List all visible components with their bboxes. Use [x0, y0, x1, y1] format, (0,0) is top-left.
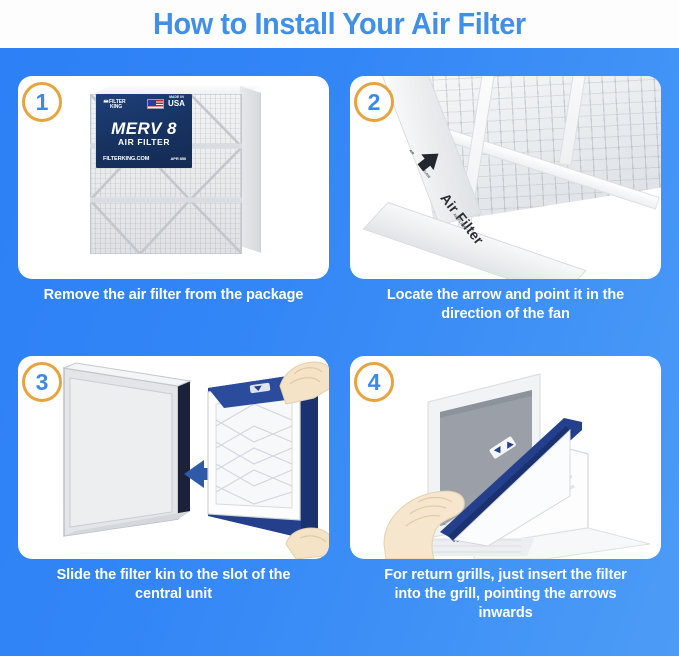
hand-upper-icon — [280, 362, 329, 404]
air-filter-photo: FILTER KING MADE IN USA MERV 8 AIR FILTE… — [84, 86, 264, 266]
infographic-root: How to Install Your Air Filter — [0, 0, 679, 656]
header-bar: How to Install Your Air Filter — [0, 0, 679, 48]
filter-corner-assembly: AIR FLOW Air Filter AIRFLOW — [350, 76, 661, 279]
step-caption-2: Locate the arrow and point it in the dir… — [350, 286, 661, 324]
product-type-text: AIR FILTER — [96, 138, 192, 147]
step-number-4: 4 — [368, 371, 381, 394]
apr-rating-text: APR 850 — [170, 156, 186, 161]
step-number-badge-1: 1 — [22, 82, 62, 122]
central-unit-body — [64, 363, 190, 536]
usa-flag-icon — [147, 99, 164, 109]
step-number-badge-2: 2 — [354, 82, 394, 122]
step-number-badge-3: 3 — [22, 362, 62, 402]
steps-grid: FILTER KING MADE IN USA MERV 8 AIR FILTE… — [0, 48, 679, 656]
brand-website-text: FILTERKING.COM — [103, 156, 149, 162]
label-footer: FILTERKING.COM APR 850 — [103, 156, 186, 162]
slide-filter-illustration — [18, 356, 329, 559]
filter-side-edge — [240, 86, 261, 253]
return-grille-illustration — [350, 356, 661, 559]
page-title: How to Install Your Air Filter — [153, 8, 526, 41]
air-filter-corner-photo: AIR FLOW Air Filter AIRFLOW — [350, 76, 661, 279]
step-number-2: 2 — [368, 91, 381, 114]
step-2-image-card: AIR FLOW Air Filter AIRFLOW — [350, 76, 661, 279]
step-number-badge-4: 4 — [354, 362, 394, 402]
filter-product-label: FILTER KING MADE IN USA MERV 8 AIR FILTE… — [96, 94, 192, 168]
brand-line-2: KING — [103, 105, 122, 110]
step-number-3: 3 — [36, 371, 49, 394]
country-text: USA — [165, 100, 188, 108]
step-caption-4: For return grills, just insert the filte… — [350, 566, 661, 623]
step-1-image-card: FILTER KING MADE IN USA MERV 8 AIR FILTE… — [18, 76, 329, 279]
step-4-image-card — [350, 356, 661, 559]
filter-king-logo: FILTER KING — [103, 98, 126, 111]
step-caption-1: Remove the air filter from the package — [18, 286, 329, 305]
merv-rating-text: MERV 8 — [96, 120, 192, 137]
step-caption-3: Slide the filter kin to the slot of the … — [18, 566, 329, 604]
made-in-usa-badge: MADE IN USA — [165, 96, 188, 108]
step-3-image-card — [18, 356, 329, 559]
step-number-1: 1 — [36, 91, 49, 114]
